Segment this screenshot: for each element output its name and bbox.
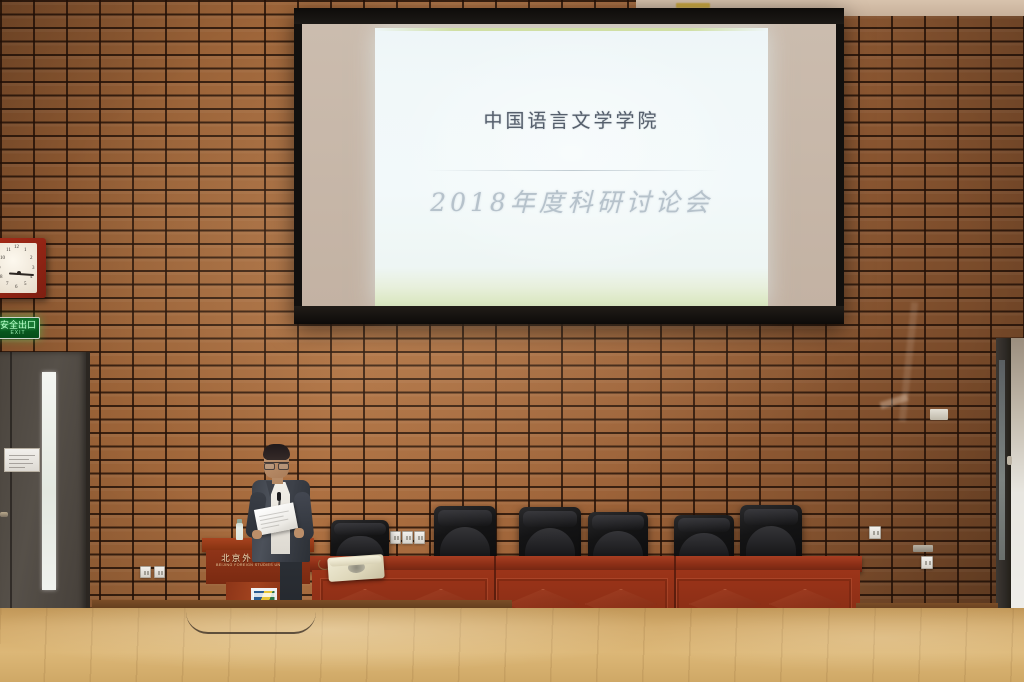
clock-numeral: 1: [24, 248, 27, 253]
clock-numeral: 3: [32, 266, 35, 271]
slide-subtitle: 2018年度科研讨论会: [375, 183, 768, 219]
right-door-panel[interactable]: [996, 338, 1011, 620]
power-outlet: [921, 556, 933, 569]
wall-clock: 12 1 2 3 4 5 6 7 8 9 10 11: [0, 238, 46, 298]
projection-screen: 中国语言文学学院 2018年度科研讨论会: [294, 8, 844, 324]
exit-sign-label-en: EXIT: [10, 330, 25, 336]
microphone-icon: [277, 492, 281, 501]
power-outlet: [140, 566, 151, 578]
power-outlet: [390, 531, 401, 544]
clock-numeral: 6: [15, 285, 18, 290]
university-crest-band: [253, 593, 275, 597]
projector-glow: [375, 28, 768, 306]
screen-frame-bottom: [294, 306, 844, 324]
speaker-hand-right: [294, 528, 304, 538]
left-door[interactable]: [0, 352, 90, 620]
desk-telephone: [327, 554, 385, 582]
clock-face: 12 1 2 3 4 5 6 7 8 9 10 11: [0, 243, 37, 293]
conference-hall-photo: 中国语言文学学院 2018年度科研讨论会 12 1 2 3 4 5 6 7 8 …: [0, 0, 1024, 682]
clock-numeral: 5: [24, 282, 27, 287]
power-outlet: [402, 531, 413, 544]
door-glass-panel: [42, 372, 56, 590]
right-door[interactable]: [996, 338, 1024, 620]
door-seam: [10, 352, 12, 620]
screen-surface: 中国语言文学学院 2018年度科研讨论会: [302, 24, 836, 308]
power-outlet: [414, 531, 425, 544]
slide-divider: [427, 170, 719, 171]
right-doorway-opening: [1011, 338, 1024, 620]
door-handle[interactable]: [0, 512, 8, 517]
wall-plate: [930, 409, 948, 420]
eyeglasses-icon: [264, 462, 289, 467]
wooden-floor: [0, 608, 1024, 682]
right-door-handle[interactable]: [1007, 456, 1012, 465]
door-notice-paper: [4, 448, 40, 472]
clock-numeral: 8: [0, 275, 3, 280]
clock-numeral: 11: [6, 248, 11, 253]
screen-frame-top: [294, 8, 844, 24]
clock-numeral: 4: [30, 275, 33, 280]
emergency-exit-sign: 安全出口 EXIT: [0, 317, 40, 339]
slide-title: 中国语言文学学院: [375, 106, 768, 133]
speaker-hand-left: [252, 530, 262, 539]
floor-reflection: [0, 608, 1024, 682]
water-bottle: [236, 523, 243, 540]
clock-numeral: 7: [6, 282, 9, 287]
clock-numeral: 9: [0, 266, 1, 271]
clock-minute-hand: [19, 273, 34, 276]
exit-sign-label-cn: 安全出口: [0, 320, 36, 330]
slide-top-edge: [375, 28, 768, 31]
wall-bracket: [913, 545, 933, 552]
right-door-glass-panel: [999, 360, 1005, 560]
projected-slide: 中国语言文学学院 2018年度科研讨论会: [375, 28, 768, 306]
clock-center-pin: [17, 271, 21, 275]
clock-numeral: 2: [30, 256, 33, 261]
power-outlet: [869, 526, 881, 539]
power-outlet: [154, 566, 165, 578]
speaker-hair: [263, 444, 290, 460]
floor-cable: [186, 612, 316, 634]
clock-numeral: 10: [0, 256, 5, 261]
clock-numeral: 12: [14, 245, 19, 250]
